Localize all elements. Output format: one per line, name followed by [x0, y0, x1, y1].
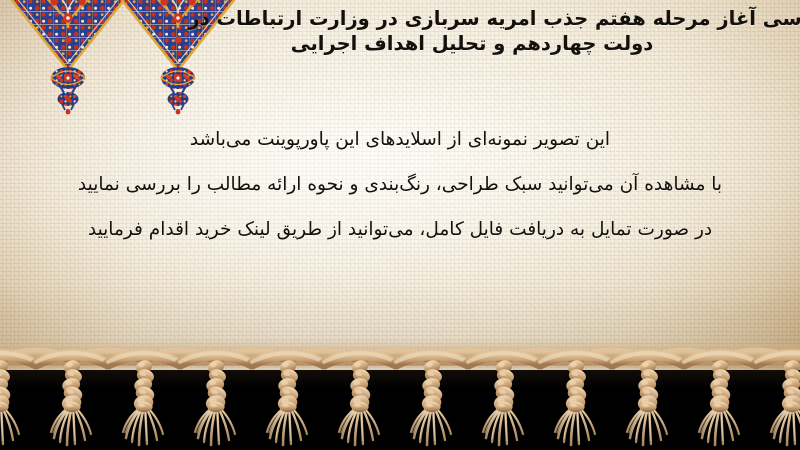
title-line-1: سی آغاز مرحله هفتم جذب امریه سربازی در و… — [152, 6, 800, 31]
slide-canvas: سی آغاز مرحله هفتم جذب امریه سربازی در و… — [0, 0, 800, 450]
body-line-2: با مشاهده آن می‌توانید سبک طراحی، رنگ‌بن… — [0, 163, 800, 208]
body-line-3: در صورت تمایل به دریافت فایل کامل، می‌تو… — [0, 208, 800, 253]
slide-title: سی آغاز مرحله هفتم جذب امریه سربازی در و… — [152, 6, 792, 57]
body-line-1: این تصویر نمونه‌ای از اسلایدهای این پاور… — [0, 118, 800, 163]
title-line-2: دولت چهاردهم و تحلیل اهداف اجرایی — [152, 31, 792, 56]
slide-body: این تصویر نمونه‌ای از اسلایدهای این پاور… — [0, 118, 800, 252]
bottom-black-band — [0, 370, 800, 450]
